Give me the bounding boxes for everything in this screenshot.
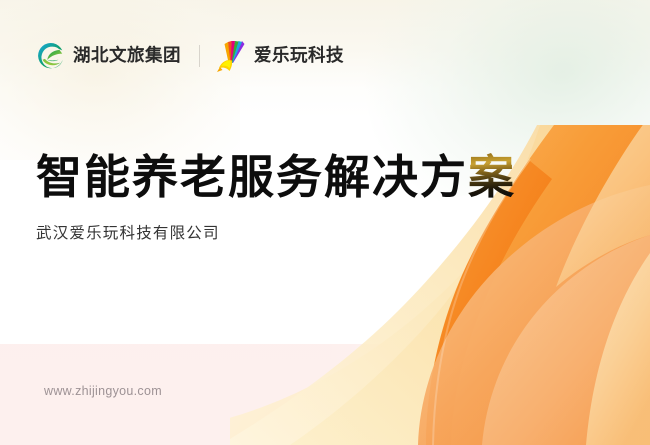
logo-divider <box>199 45 200 67</box>
page-title-plain-tail: 方 <box>420 151 468 203</box>
top-left-warm-wash <box>0 0 240 160</box>
logo-ailewan-tech: 爱乐玩科技 <box>216 38 344 74</box>
page-title-gilded: 案 <box>468 151 516 203</box>
logo-hubei-culture-tourism: 湖北文旅集团 <box>36 38 181 74</box>
ailewan-tech-bird-icon <box>216 40 247 73</box>
page-subtitle: 武汉爱乐玩科技有限公司 <box>36 221 596 243</box>
logo-hubei-wordmark: 湖北文旅集团 <box>73 47 181 65</box>
footer-website-url: www.zhijingyou.com <box>44 384 162 398</box>
logo-bar: 湖北文旅集团 爱乐玩科技 <box>36 38 344 74</box>
logo-ailewan-wordmark: 爱乐玩科技 <box>254 47 344 65</box>
title-block: 智能养老服务解决方案 武汉爱乐玩科技有限公司 <box>36 152 596 243</box>
page-title: 智能养老服务解决方案 <box>36 152 596 204</box>
page-title-plain: 智能养老服务解决 <box>36 151 420 203</box>
hubei-culture-tourism-swirl-icon <box>36 41 66 71</box>
presentation-cover-slide: 湖北文旅集团 爱乐玩科技 <box>0 0 650 445</box>
